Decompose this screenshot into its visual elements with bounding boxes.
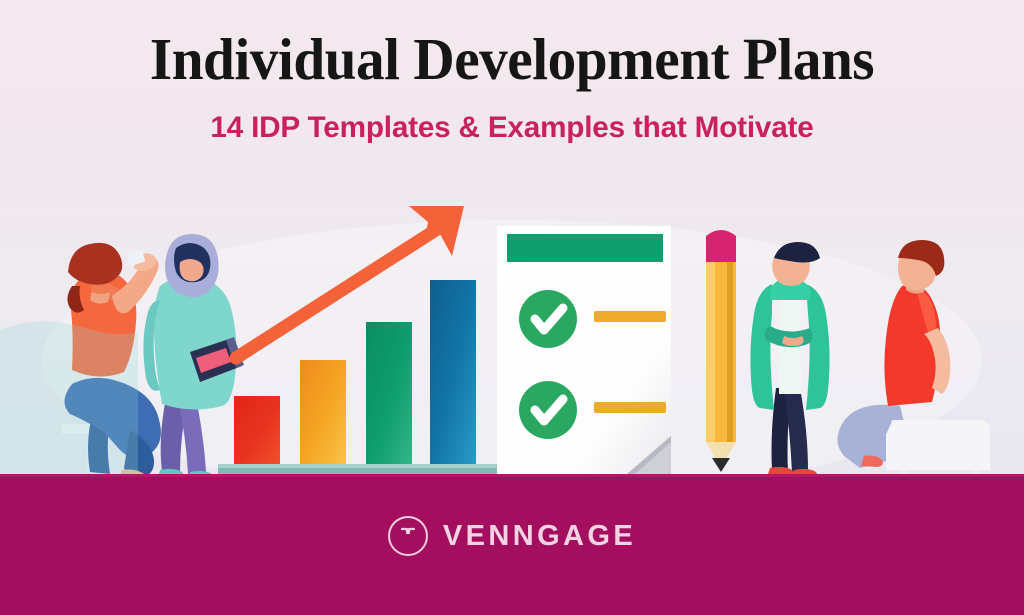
venngage-circle-icon: [388, 516, 428, 556]
page-title: Individual Development Plans: [15, 29, 1008, 91]
brand-logo: VENNGAGE: [0, 516, 1024, 556]
page-subtitle: 14 IDP Templates & Examples that Motivat…: [5, 111, 1019, 144]
footer-band-edge: [0, 474, 1024, 477]
brand-name: VENNGAGE: [443, 520, 636, 553]
poster-canvas: Individual Development Plans 14 IDP Temp…: [0, 0, 1024, 615]
checklist-document: [497, 226, 671, 474]
pencil: [706, 230, 736, 472]
